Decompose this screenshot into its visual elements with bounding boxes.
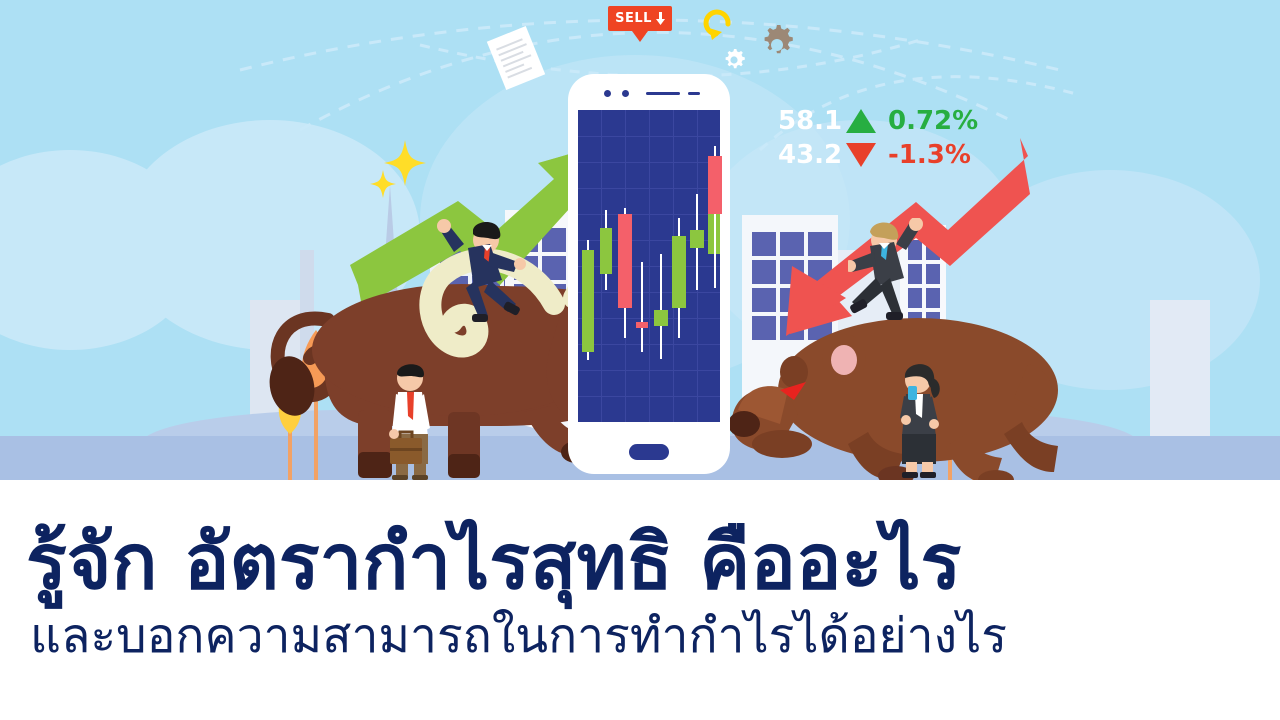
badge-tail	[632, 31, 648, 42]
ticker-change: -1.3%	[888, 140, 971, 170]
sell-badge[interactable]: SELL	[608, 6, 672, 31]
candle-1	[582, 240, 594, 360]
candle-6	[672, 218, 686, 338]
candle-7	[690, 194, 704, 290]
gear-icon-small	[722, 48, 746, 72]
smartphone-device[interactable]	[568, 74, 730, 474]
businessman-on-bear	[848, 218, 958, 328]
ticker-row-up: 58.1 0.72%	[778, 104, 978, 138]
camera-icon	[604, 90, 611, 97]
caption-block: รู้จัก อัตรากำไรสุทธิ คืออะไร และบอกความ…	[0, 480, 1280, 720]
businessman-with-briefcase	[378, 362, 448, 480]
speaker-icon	[688, 92, 700, 95]
triangle-up-icon	[846, 109, 876, 133]
caption-line-2: และบอกความสามารถในการทำกำไรได้อย่างไร	[30, 598, 1007, 674]
home-button[interactable]	[629, 444, 669, 460]
speaker-icon	[646, 92, 680, 95]
ticker-value: 58.1	[778, 106, 834, 136]
triangle-down-icon	[846, 143, 876, 167]
candle-9	[708, 146, 722, 266]
down-arrow-icon	[656, 12, 665, 25]
candle-3	[618, 208, 632, 338]
candle-4	[636, 262, 648, 352]
refresh-arrow-icon	[700, 6, 736, 42]
hero-illustration: 58.1 0.72% 43.2 -1.3% SELL	[0, 0, 1280, 480]
sell-label: SELL	[615, 11, 652, 26]
ticker-row-down: 43.2 -1.3%	[778, 138, 978, 172]
page-root: 58.1 0.72% 43.2 -1.3% SELL	[0, 0, 1280, 720]
ticker-value: 43.2	[778, 140, 834, 170]
sensor-icon	[622, 90, 629, 97]
candle-2	[600, 210, 612, 290]
gear-icon-large	[756, 24, 798, 66]
businessman-on-bull	[428, 218, 538, 328]
price-ticker: 58.1 0.72% 43.2 -1.3%	[778, 104, 978, 172]
sparkle-icon-small	[370, 170, 396, 198]
candlestick-chart[interactable]	[578, 110, 720, 422]
candle-5	[654, 254, 668, 359]
ticker-change: 0.72%	[888, 106, 978, 136]
businesswoman-with-phone	[890, 362, 954, 480]
